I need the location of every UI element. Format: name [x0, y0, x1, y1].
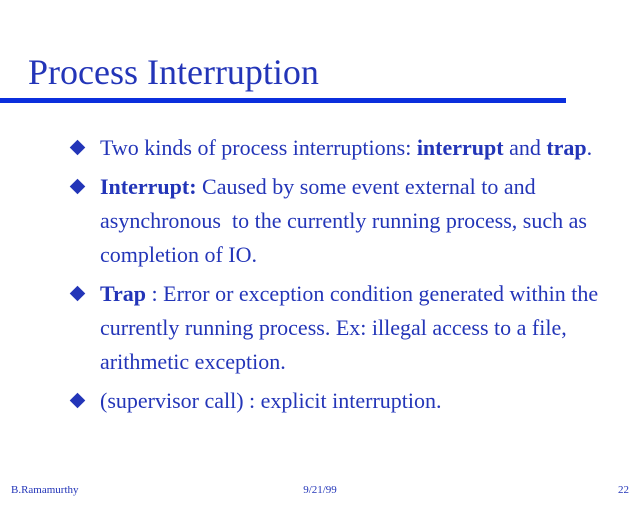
diamond-bullet-icon [70, 286, 86, 302]
slide-canvas: Process Interruption Two kinds of proces… [0, 0, 640, 512]
bullet-text-two-kinds: Two kinds of process interruptions: inte… [100, 131, 615, 165]
diamond-bullet-icon [70, 179, 86, 195]
bullet-text-trap: Trap : Error or exception condition gene… [100, 277, 615, 379]
page-title: Process Interruption [28, 50, 319, 94]
list-item: Trap : Error or exception condition gene… [70, 277, 615, 379]
list-item: Interrupt: Caused by some event external… [70, 170, 615, 272]
footer-date: 9/21/99 [0, 483, 640, 497]
slide-footer: B.Ramamurthy 9/21/99 22 [0, 483, 640, 503]
list-item: Two kinds of process interruptions: inte… [70, 131, 615, 165]
title-underline-rule [0, 98, 566, 103]
bullet-text-interrupt: Interrupt: Caused by some event external… [100, 170, 615, 272]
diamond-bullet-icon [70, 393, 86, 409]
bullet-text-supervisor-call: (supervisor call) : explicit interruptio… [100, 384, 615, 418]
list-item: (supervisor call) : explicit interruptio… [70, 384, 615, 418]
footer-page-number: 22 [618, 483, 629, 497]
diamond-bullet-icon [70, 140, 86, 156]
bullet-list: Two kinds of process interruptions: inte… [70, 131, 615, 423]
